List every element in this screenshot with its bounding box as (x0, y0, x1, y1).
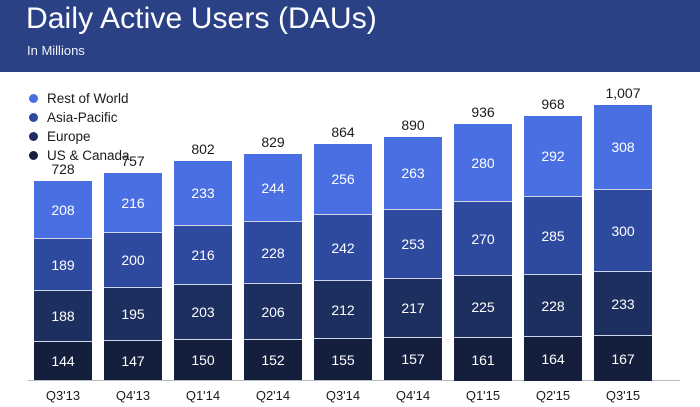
bar-segment[interactable]: 225 (454, 275, 512, 337)
bar-stack: 233216203150 (174, 161, 232, 380)
bar-segment-value: 216 (121, 196, 144, 210)
bar-segment[interactable]: 228 (524, 274, 582, 336)
bar-group[interactable]: 802233216203150 (174, 161, 232, 380)
bar-stack: 244228206152 (244, 154, 302, 380)
x-axis-label: Q3'14 (314, 388, 372, 403)
bar-total-label: 1,007 (594, 85, 652, 101)
x-axis-label: Q2'15 (524, 388, 582, 403)
bar-segment[interactable]: 308 (594, 105, 652, 189)
page-title: Daily Active Users (DAUs) (26, 2, 377, 36)
bar-segment-value: 195 (121, 307, 144, 321)
bar-stack: 280270225161 (454, 124, 512, 380)
bar-segment[interactable]: 164 (524, 336, 582, 381)
bar-segment-value: 203 (191, 305, 214, 319)
bar-segment-value: 270 (471, 232, 494, 246)
bar-segment-value: 150 (191, 353, 214, 367)
bar-segment-value: 188 (51, 309, 74, 323)
header-band: Daily Active Users (DAUs) In Millions (0, 0, 700, 72)
bar-segment[interactable]: 228 (244, 221, 302, 283)
x-axis-label: Q4'13 (104, 388, 162, 403)
x-axis-line (28, 380, 680, 381)
x-axis-label: Q1'15 (454, 388, 512, 403)
bar-group[interactable]: 936280270225161 (454, 124, 512, 380)
chart-page: Daily Active Users (DAUs) In Millions Re… (0, 0, 700, 407)
bar-total-label: 968 (524, 96, 582, 112)
bar-segment-value: 225 (471, 300, 494, 314)
bar-segment[interactable]: 242 (314, 214, 372, 280)
bar-segment-value: 212 (331, 303, 354, 317)
bar-segment-value: 263 (401, 166, 424, 180)
bar-segment[interactable]: 188 (34, 290, 92, 341)
bar-segment[interactable]: 292 (524, 116, 582, 196)
bar-segment[interactable]: 280 (454, 124, 512, 201)
bar-segment[interactable]: 233 (174, 161, 232, 225)
bar-segment-value: 208 (51, 203, 74, 217)
bar-segment[interactable]: 216 (104, 173, 162, 232)
bar-segment-value: 157 (401, 352, 424, 366)
bar-segment-value: 233 (611, 297, 634, 311)
x-axis-label: Q2'14 (244, 388, 302, 403)
bar-segment-value: 280 (471, 156, 494, 170)
bar-segment-value: 233 (191, 186, 214, 200)
bar-segment-value: 256 (331, 172, 354, 186)
bar-stack: 256242212155 (314, 144, 372, 380)
bar-segment[interactable]: 144 (34, 341, 92, 380)
bar-group[interactable]: 1,007308300233167 (594, 105, 652, 380)
bar-segment-value: 155 (331, 353, 354, 367)
bar-segment[interactable]: 167 (594, 335, 652, 381)
bar-group[interactable]: 968292285228164 (524, 116, 582, 380)
bar-group[interactable]: 728208189188144 (34, 181, 92, 380)
bar-segment-value: 292 (541, 149, 564, 163)
bar-segment[interactable]: 217 (384, 278, 442, 337)
bar-segment[interactable]: 189 (34, 238, 92, 290)
bar-segment-value: 200 (121, 253, 144, 267)
bar-segment[interactable]: 244 (244, 154, 302, 221)
bar-stack: 216200195147 (104, 173, 162, 380)
bar-segment[interactable]: 270 (454, 201, 512, 275)
bar-segment-value: 189 (51, 258, 74, 272)
bar-segment[interactable]: 195 (104, 287, 162, 340)
bar-segment-value: 217 (401, 301, 424, 315)
bar-segment[interactable]: 263 (384, 137, 442, 209)
bar-segment-value: 228 (261, 246, 284, 260)
bar-segment-value: 152 (261, 353, 284, 367)
bar-total-label: 936 (454, 104, 512, 120)
bar-stack: 208189188144 (34, 181, 92, 380)
bar-segment-value: 164 (541, 352, 564, 366)
bar-segment[interactable]: 147 (104, 340, 162, 380)
bar-segment-value: 206 (261, 305, 284, 319)
bar-segment-value: 244 (261, 181, 284, 195)
bar-group[interactable]: 829244228206152 (244, 154, 302, 380)
bar-group[interactable]: 864256242212155 (314, 144, 372, 380)
bar-segment[interactable]: 200 (104, 232, 162, 287)
bar-segment-value: 253 (401, 237, 424, 251)
bar-segment[interactable]: 155 (314, 338, 372, 380)
bar-segment[interactable]: 285 (524, 196, 582, 274)
bar-segment[interactable]: 300 (594, 189, 652, 271)
bar-total-label: 890 (384, 117, 442, 133)
bar-segment-value: 308 (611, 140, 634, 154)
bar-segment[interactable]: 152 (244, 339, 302, 380)
bar-total-label: 757 (104, 153, 162, 169)
x-axis-label: Q3'13 (34, 388, 92, 403)
bar-total-label: 728 (34, 161, 92, 177)
bar-segment[interactable]: 208 (34, 181, 92, 238)
chart-plot-area: 728208189188144Q3'13757216200195147Q4'13… (0, 72, 700, 407)
bar-segment[interactable]: 157 (384, 337, 442, 380)
bar-segment-value: 285 (541, 229, 564, 243)
bar-segment[interactable]: 161 (454, 337, 512, 381)
bar-stack: 292285228164 (524, 116, 582, 380)
bar-segment-value: 300 (611, 224, 634, 238)
x-axis-label: Q1'14 (174, 388, 232, 403)
bar-segment-value: 147 (121, 354, 144, 368)
bar-total-label: 864 (314, 124, 372, 140)
bar-segment[interactable]: 203 (174, 284, 232, 339)
bar-segment-value: 242 (331, 241, 354, 255)
bar-group[interactable]: 890263253217157 (384, 137, 442, 380)
bar-stack: 263253217157 (384, 137, 442, 380)
bar-segment-value: 216 (191, 248, 214, 262)
bar-segment-value: 167 (611, 352, 634, 366)
page-subtitle: In Millions (27, 43, 85, 58)
bar-segment[interactable]: 253 (384, 209, 442, 278)
bar-segment[interactable]: 206 (244, 283, 302, 339)
bar-total-label: 802 (174, 141, 232, 157)
bar-group[interactable]: 757216200195147 (104, 173, 162, 380)
bar-segment[interactable]: 212 (314, 280, 372, 338)
bar-segment-value: 228 (541, 299, 564, 313)
bar-segment-value: 161 (471, 353, 494, 367)
bar-segment[interactable]: 216 (174, 225, 232, 284)
x-axis-label: Q3'15 (594, 388, 652, 403)
bar-total-label: 829 (244, 134, 302, 150)
x-axis-label: Q4'14 (384, 388, 442, 403)
bar-segment[interactable]: 233 (594, 271, 652, 335)
bar-stack: 308300233167 (594, 105, 652, 380)
bar-segment-value: 144 (51, 354, 74, 368)
bar-segment[interactable]: 150 (174, 339, 232, 380)
bar-segment[interactable]: 256 (314, 144, 372, 214)
